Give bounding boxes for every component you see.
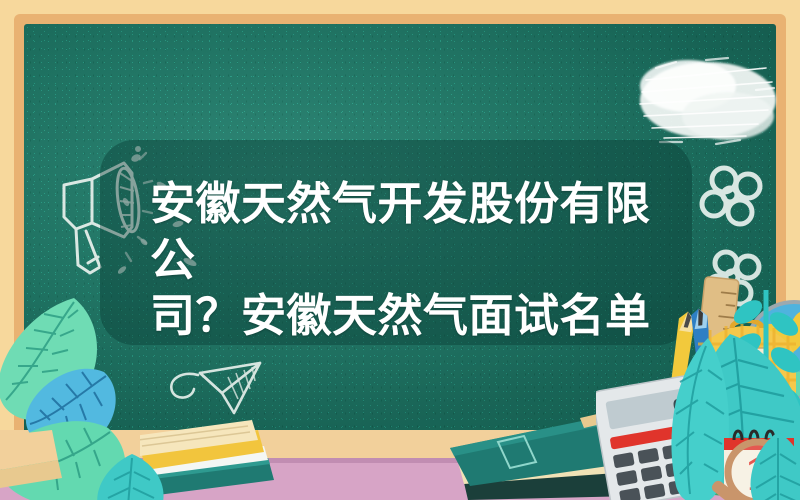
page-title-line-1: 安徽天然气开发股份有限公 xyxy=(150,176,670,288)
page-title: 安徽天然气开发股份有限公 司？安徽天然气面试名单 xyxy=(150,176,670,344)
desk-shadow xyxy=(0,458,800,463)
poster-canvas: 安徽天然气开发股份有限公 司？安徽天然气面试名单 xyxy=(0,0,800,500)
page-title-line-2: 司？安徽天然气面试名单 xyxy=(150,288,670,344)
desk-surface xyxy=(0,458,800,500)
